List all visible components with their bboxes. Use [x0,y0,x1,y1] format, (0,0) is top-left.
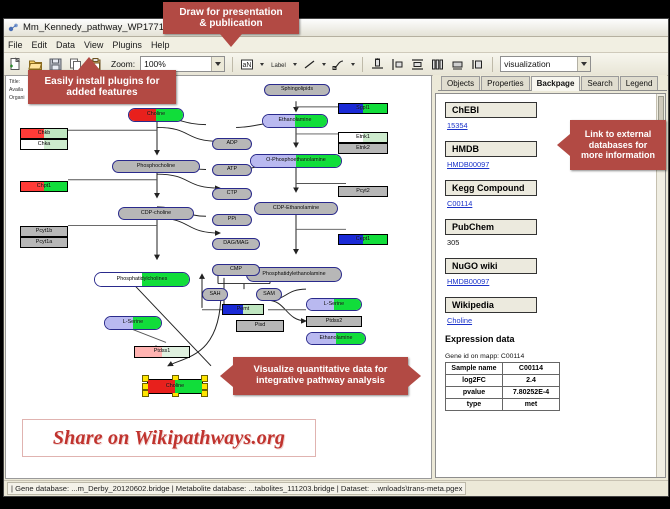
menu-edit[interactable]: Edit [32,40,48,50]
window-titlebar: Mm_Kennedy_pathway_WP1771_45176.gpml [4,19,668,37]
metabolite-node-phosphatidylethanolamine[interactable]: Phosphatidylethanolamine [246,267,342,282]
callout-share-text: Share on Wikipathways.org [53,427,285,450]
distribute-horizontal-icon[interactable] [430,57,445,72]
statusbar: | Gene database: ...m_Derby_20120602.bri… [4,480,668,496]
callout-link-arrow [557,134,570,156]
gene-node-etnk1[interactable]: Etnk1 [338,132,388,143]
selection-handle-se[interactable] [201,390,208,397]
callout-plugins: Easily install plugins for added feature… [28,70,176,104]
metabolite-node-sam[interactable]: SAM [256,288,282,301]
interaction-dropdown-arrow[interactable] [351,63,355,66]
db-header-chebi: ChEBI [445,102,537,118]
metabolite-node-ctp[interactable]: CTP [212,188,252,200]
gene-node-pcyt2[interactable]: Pcyt2 [338,186,388,197]
common-height-icon[interactable] [470,57,485,72]
db-header-kegg-compound: Kegg Compound [445,180,537,196]
callout-link-line1: Link to external [585,129,652,139]
metabolite-node-dagmag[interactable]: DAG/MAG [212,238,260,250]
line-tool-icon[interactable] [302,57,317,72]
canvas-info-organism: Organi [9,95,25,101]
toolbar-separator-2 [362,57,363,72]
menu-file[interactable]: File [8,40,23,50]
metabolite-node-cmp[interactable]: CMP [212,264,260,276]
metabolite-node-ethanolamine-2[interactable]: Ethanolamine [306,332,366,345]
align-left-icon[interactable] [390,57,405,72]
tab-search[interactable]: Search [581,76,618,90]
gene-id-on-mapp: Gene id on mapp: C00114 [445,353,665,360]
metabolite-node-ethanolamine[interactable]: Ethanolamine [262,114,328,128]
statusbar-databases: | Gene database: ...m_Derby_20120602.bri… [7,482,466,495]
gene-node-etnk2[interactable]: Etnk2 [338,143,388,154]
zoom-label: Zoom: [111,59,135,69]
metabolite-node-ppi[interactable]: PPi [212,214,252,226]
db-header-nugo-wiki: NuGO wiki [445,258,537,274]
svg-text:Label: Label [271,63,286,69]
callout-link-databases: Link to external databases for more info… [570,120,666,170]
metabolite-node-choline-top[interactable]: Choline [128,108,184,122]
gene-node-ptdss2[interactable]: Ptdss2 [306,316,362,327]
zoom-combo-arrow[interactable] [211,57,224,71]
selection-handle-ne[interactable] [201,375,208,382]
db-header-wikipedia: Wikipedia [445,297,537,313]
metabolite-node-l-serine-left[interactable]: L-Serine [104,316,162,330]
visualization-value: visualization [504,59,550,69]
visualization-combo[interactable]: visualization [500,56,591,72]
gene-node-chkb[interactable]: Chkb [20,128,68,139]
db-header-pubchem: PubChem [445,219,537,235]
expression-value-log2fc: 2.4 [503,375,560,387]
tab-legend[interactable]: Legend [620,76,659,90]
expression-value-type: met [503,399,560,411]
line-dropdown-arrow[interactable] [322,63,326,66]
svg-text:aN: aN [243,62,252,69]
canvas-info-title: Title: [9,79,20,85]
menubar: File Edit Data View Plugins Help [4,37,668,53]
gene-node-sgpl1[interactable]: Sgpl1 [338,103,388,114]
zoom-value: 100% [144,59,166,69]
callout-draw-line2: & publication [193,18,268,33]
gene-node-cept1[interactable]: Cept1 [338,234,388,245]
callout-plugins-line2: added features [60,87,143,102]
table-row: pvalue 7.80252E-4 [446,387,560,399]
expression-value-pvalue: 7.80252E-4 [503,387,560,399]
table-row: Sample name C00114 [446,363,560,375]
callout-draw-arrow [220,34,242,47]
toolbar-separator-3 [492,57,493,72]
screenshot-root: Mm_Kennedy_pathway_WP1771_45176.gpml Fil… [0,0,670,509]
expression-key-log2fc: log2FC [446,375,503,387]
selection-box[interactable]: Choline [142,375,208,397]
callout-visualize-arrow-left [220,365,233,387]
toolbar-separator-1 [232,57,233,72]
menu-data[interactable]: Data [56,40,75,50]
interaction-tool-icon[interactable] [331,57,346,72]
table-row: type met [446,399,560,411]
db-link-kegg-compound[interactable]: C00114 [447,199,665,208]
tab-objects[interactable]: Objects [441,76,480,90]
db-header-hmdb: HMDB [445,141,537,157]
tab-backpage[interactable]: Backpage [531,76,581,91]
expression-key-sample-name: Sample name [446,363,503,375]
common-width-icon[interactable] [450,57,465,72]
metabolite-node-cdp-ethanolamine[interactable]: CDP-Ethanolamine [254,202,338,215]
expression-key-type: type [446,399,503,411]
expression-key-pvalue: pvalue [446,387,503,399]
align-top-icon[interactable] [370,57,385,72]
callout-plugins-arrow [78,57,100,70]
data-node-icon[interactable]: aN [240,57,255,72]
visualization-combo-arrow[interactable] [577,57,590,71]
new-file-icon[interactable] [8,57,23,72]
metabolite-node-l-serine-right[interactable]: L-Serine [306,298,362,311]
expression-data-title: Expression data [445,334,665,344]
gene-node-chpt1[interactable]: Chpt1 [20,181,68,192]
metabolite-node-atp[interactable]: ATP [212,164,252,176]
gene-node-ptdss1[interactable]: Ptdss1 [134,346,190,358]
menu-view[interactable]: View [84,40,103,50]
db-value-pubchem: 305 [447,238,665,247]
selection-handle-e[interactable] [201,383,208,390]
callout-link-line2: databases for [589,140,648,150]
callout-visualize-line2: integrative pathway analysis [250,376,391,390]
callout-draw: Draw for presentation & publication [163,2,299,34]
gene-node-pcyt1b[interactable]: Pcyt1b [20,226,68,237]
gene-node-pcyt1a[interactable]: Pcyt1a [20,237,68,248]
callout-plugins-line1: Easily install plugins for [38,73,165,88]
tab-properties[interactable]: Properties [481,76,529,90]
db-link-nugo-wiki[interactable]: HMDB00097 [447,277,665,286]
gene-node-pemt[interactable]: Pemt [222,304,264,315]
expression-table: Sample name C00114 log2FC 2.4 pvalue 7.8… [445,362,560,411]
callout-draw-line1: Draw for presentation [173,4,288,19]
callout-visualize: Visualize quantitative data for integrat… [233,357,408,395]
callout-visualize-line1: Visualize quantitative data for [248,362,394,376]
menu-plugins[interactable]: Plugins [112,40,142,50]
side-panel-tabs: Objects Properties Backpage Search Legen… [433,75,667,91]
gene-node-chka[interactable]: Chka [20,139,68,150]
callout-link-line3: more information [581,150,655,160]
metabolite-node-choline-selected[interactable]: Choline [147,379,203,394]
label-tool-icon[interactable]: Label [269,57,288,72]
canvas-info-available: Availa [9,87,23,93]
callout-visualize-arrow-right [408,365,421,387]
gene-node-pisd[interactable]: Pisd [236,320,284,332]
metabolite-node-sah[interactable]: SAH [202,288,228,301]
table-row: log2FC 2.4 [446,375,560,387]
metabolite-node-o-phosphoethanolamine[interactable]: O-Phosphoethanolamine [250,154,342,168]
metabolite-node-cdp-choline[interactable]: CDP-choline [118,207,194,220]
pathvisio-app-icon [8,22,19,33]
metabolite-node-adp[interactable]: ADP [212,138,252,150]
db-link-wikipedia[interactable]: Choline [447,316,665,325]
distribute-vertical-icon[interactable] [410,57,425,72]
expression-value-sample-name: C00114 [503,363,560,375]
label-dropdown-arrow[interactable] [293,63,297,66]
metabolite-node-phosphatidylcholines[interactable]: Phosphatidylcholines [94,272,190,287]
data-node-dropdown-arrow[interactable] [260,63,264,66]
menu-help[interactable]: Help [151,40,170,50]
metabolite-node-sphingolipids[interactable]: Sphingolipids [264,84,330,96]
callout-share: Share on Wikipathways.org [22,419,316,457]
metabolite-node-phosphocholine[interactable]: Phosphocholine [112,160,200,173]
